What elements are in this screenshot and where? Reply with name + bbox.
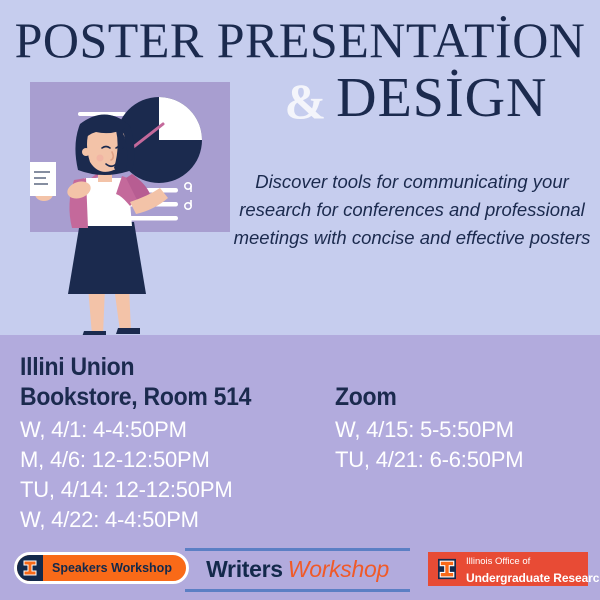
session-item: M, 4/6: 12-12:50PM <box>20 445 330 475</box>
logo-writers-workshop[interactable]: WritersWorkshop <box>185 548 410 592</box>
session-item: W, 4/1: 4-4:50PM <box>20 415 330 445</box>
schedule-section: Illini Union Bookstore, Room 514 W, 4/1:… <box>0 352 600 542</box>
our-line-2: Undergraduate Research <box>466 571 600 585</box>
logo-speakers-workshop[interactable]: Speakers Workshop <box>14 552 189 584</box>
speakers-workshop-label: Speakers Workshop <box>52 561 172 575</box>
presenter-at-board-illustration <box>22 82 238 335</box>
session-item: W, 4/15: 5-5:50PM <box>335 415 595 445</box>
illinois-block-i-icon <box>17 555 43 581</box>
footer-logos: Speakers Workshop WritersWorkshop Illino… <box>0 548 600 592</box>
title-line-1: POSTER PRESENTATİON <box>0 14 600 66</box>
workshop-word: Workshop <box>288 556 389 582</box>
venue-block-zoom: Zoom W, 4/15: 5-5:50PM TU, 4/21: 6-6:50P… <box>335 382 595 475</box>
venue-name-line-1: Illini Union <box>20 352 305 382</box>
session-item: W, 4/22: 4-4:50PM <box>20 505 330 535</box>
logo-undergraduate-research[interactable]: Illinois Office of Undergraduate Researc… <box>428 552 588 586</box>
writers-word: Writers <box>206 556 283 582</box>
session-item: TU, 4/21: 6-6:50PM <box>335 445 595 475</box>
poster-description: Discover tools for communicating your re… <box>228 168 596 252</box>
poster-canvas: POSTER PRESENTATİON &DESİGN Discover too… <box>0 0 600 600</box>
undergraduate-research-text: Illinois Office of Undergraduate Researc… <box>466 551 600 587</box>
venue-name-line-1: Zoom <box>335 382 574 412</box>
poster-title: POSTER PRESENTATİON <box>0 14 600 66</box>
session-item: TU, 4/14: 12-12:50PM <box>20 475 330 505</box>
our-line-1: Illinois Office of <box>466 556 530 567</box>
session-list-zoom: W, 4/15: 5-5:50PM TU, 4/21: 6-6:50PM <box>335 415 595 475</box>
venue-name-line-2: Bookstore, Room 514 <box>20 382 305 412</box>
title-line-2: &DESİGN <box>232 66 600 130</box>
illinois-block-i-icon <box>436 556 458 582</box>
title-design-word: DESİGN <box>336 67 547 129</box>
ampersand-glyph: & <box>285 73 327 129</box>
session-list-illini-union: W, 4/1: 4-4:50PM M, 4/6: 12-12:50PM TU, … <box>20 415 330 535</box>
document-icon <box>30 162 56 196</box>
venue-block-illini-union: Illini Union Bookstore, Room 514 W, 4/1:… <box>20 352 330 535</box>
